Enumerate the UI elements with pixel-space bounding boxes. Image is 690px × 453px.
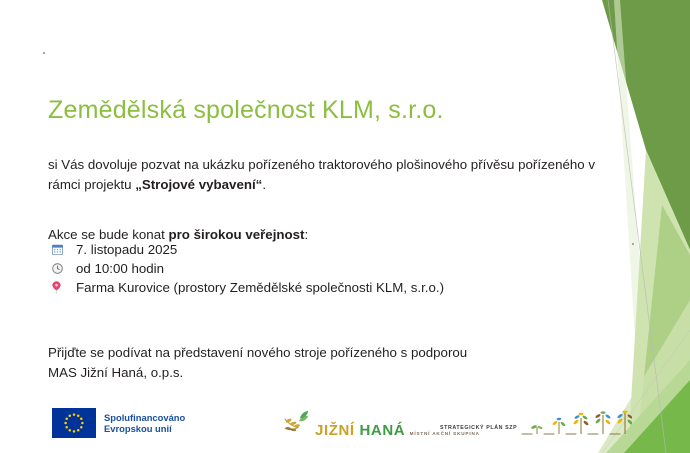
deco-shape-pale-sliver — [614, 0, 654, 453]
mas-logo-name-part1: JIŽNÍ — [315, 422, 355, 439]
eu-logo-text: Spolufinancováno Evropskou unií — [104, 412, 185, 435]
wheat-leaf-icon — [283, 409, 313, 440]
artifact-speck-top — [43, 52, 45, 54]
deco-shape-top-dark — [602, 0, 690, 250]
artifact-speck-mid — [632, 243, 634, 245]
invitation-text-end: . — [262, 177, 266, 192]
sprouting-plants-icon — [520, 410, 632, 445]
page-title: Zemědělská společnost KLM, s.r.o. — [48, 96, 444, 125]
closing-line-1: Přijďte se podívat na představení nového… — [48, 345, 467, 360]
invitation-paragraph: si Vás dovoluje pozvat na ukázku pořízen… — [48, 155, 601, 195]
list-item: 7. listopadu 2025 — [52, 240, 572, 259]
location-pin-icon — [52, 281, 74, 294]
mas-logo-name: JIŽNÍ HANÁ — [315, 422, 405, 439]
szp-strategic-plan-logo: STRATEGICKÝ PLÁN SZP — [440, 410, 632, 445]
event-details-list: 7. listopadu 2025 od 10:00 hodin — [52, 240, 572, 297]
slide-canvas: Zemědělská společnost KLM, s.r.o. si Vás… — [0, 0, 690, 453]
list-item: Farma Kurovice (prostory Zemědělské spol… — [52, 278, 572, 297]
eu-logo-line-1: Spolufinancováno — [104, 412, 185, 424]
szp-logo-label: STRATEGICKÝ PLÁN SZP — [440, 425, 517, 431]
closing-paragraph: Přijďte se podívat na představení nového… — [48, 343, 605, 383]
event-location: Farma Kurovice (prostory Zemědělské spol… — [74, 280, 444, 295]
project-name: „Strojové vybavení“ — [135, 177, 262, 192]
eu-flag-icon — [52, 408, 96, 438]
invitation-text: si Vás dovoluje pozvat na ukázku pořízen… — [48, 157, 595, 192]
eu-logo-line-2: Evropskou unií — [104, 423, 185, 435]
list-item: od 10:00 hodin — [52, 259, 572, 278]
mas-logo-name-part2: HANÁ — [355, 422, 406, 439]
footer-logos: Spolufinancováno Evropskou unií — [0, 396, 690, 453]
eu-cofunding-logo: Spolufinancováno Evropskou unií — [52, 408, 185, 438]
slide-content: Zemědělská společnost KLM, s.r.o. si Vás… — [48, 0, 613, 453]
event-time: od 10:00 hodin — [74, 261, 164, 276]
closing-line-2: MAS Jižní Haná, o.p.s. — [48, 365, 183, 380]
event-date: 7. listopadu 2025 — [74, 242, 177, 257]
calendar-icon — [52, 244, 74, 255]
deco-hairline — [608, 0, 666, 453]
clock-icon — [52, 263, 74, 274]
